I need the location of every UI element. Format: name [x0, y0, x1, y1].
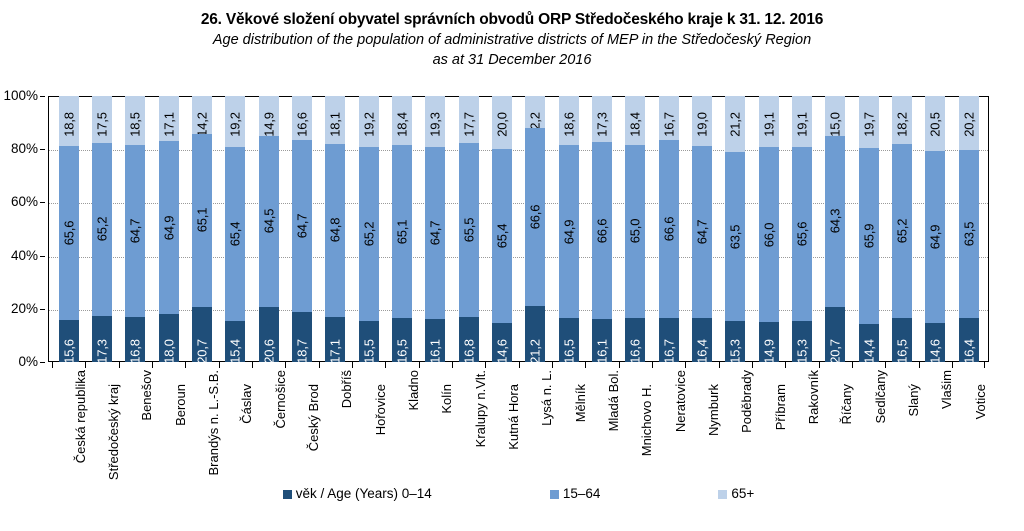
- x-axis-tick: [419, 362, 452, 368]
- stacked-bar[interactable]: 12,266,621,2: [525, 96, 545, 362]
- legend-swatch-icon: [550, 490, 559, 499]
- bar-segment-65plus[interactable]: 18,4: [625, 96, 645, 145]
- x-axis-label-cell: Černošice: [252, 370, 285, 482]
- x-axis-label-cell: Hořovice: [352, 370, 385, 482]
- bar-value-label: 21,2: [729, 112, 742, 137]
- bar-segment-0-14[interactable]: 15,6: [59, 320, 79, 361]
- bar-segment-0-14[interactable]: 20,6: [259, 307, 279, 362]
- y-axis-tick-label: 20%: [0, 302, 38, 316]
- bar-segment-65plus[interactable]: 18,5: [125, 96, 145, 145]
- bar-segment-15-64[interactable]: 65,1: [392, 145, 412, 318]
- bar-value-label: 18,7: [295, 339, 308, 364]
- bar-segment-65plus[interactable]: 14,2: [192, 96, 212, 134]
- bar-column[interactable]: 19,265,215,5: [352, 96, 385, 362]
- bar-segment-15-64[interactable]: 65,4: [225, 147, 245, 321]
- bar-value-label: 15,3: [729, 339, 742, 364]
- bar-column[interactable]: 17,164,918,0: [152, 96, 185, 362]
- bar-column[interactable]: 19,265,415,4: [219, 96, 252, 362]
- bar-segment-65plus[interactable]: 17,1: [159, 96, 179, 141]
- bar-segment-15-64[interactable]: 64,7: [125, 145, 145, 317]
- bar-column[interactable]: 18,664,916,5: [552, 96, 585, 362]
- chart-page: 26. Věkové složení obyvatel správních ob…: [0, 0, 1024, 531]
- bar-value-label: 16,4: [962, 339, 975, 364]
- bar-segment-65plus[interactable]: 21,2: [725, 96, 745, 152]
- bar-column[interactable]: 21,263,515,3: [719, 96, 752, 362]
- bar-segment-0-14[interactable]: 16,4: [692, 318, 712, 362]
- bar-value-label: 14,4: [862, 339, 875, 364]
- stacked-bar[interactable]: 15,064,320,7: [825, 96, 845, 362]
- bar-segment-15-64[interactable]: 65,2: [892, 144, 912, 318]
- bar-value-label: 19,1: [762, 112, 775, 137]
- bar-value-label: 65,9: [862, 224, 875, 249]
- bar-value-label: 64,7: [695, 220, 708, 245]
- chart-titles: 26. Věkové složení obyvatel správních ob…: [0, 10, 1024, 70]
- bar-segment-65plus[interactable]: 19,1: [792, 96, 812, 147]
- stacked-bar[interactable]: 19,765,914,4: [859, 96, 879, 362]
- legend-item[interactable]: 65+: [718, 487, 754, 501]
- stacked-bar[interactable]: 14,265,120,7: [192, 96, 212, 362]
- bar-value-label: 65,5: [462, 218, 475, 243]
- bar-segment-0-14[interactable]: 16,4: [959, 318, 979, 362]
- bar-segment-0-14[interactable]: 16,5: [559, 318, 579, 362]
- x-axis-label-cell: Poděbrady: [719, 370, 752, 482]
- bar-value-label: 65,6: [795, 222, 808, 247]
- bar-segment-0-14[interactable]: 17,3: [92, 316, 112, 362]
- chart-title-main: 26. Věkové složení obyvatel správních ob…: [0, 10, 1024, 30]
- bar-segment-0-14[interactable]: 16,1: [425, 319, 445, 362]
- x-axis-label-cell: Slaný: [885, 370, 918, 482]
- bar-value-label: 17,7: [462, 112, 475, 137]
- bar-column[interactable]: 20,263,516,4: [952, 96, 985, 362]
- bar-value-label: 63,5: [729, 225, 742, 250]
- chart-title-sub-line1: Age distribution of the population of ad…: [0, 30, 1024, 50]
- bar-value-label: 15,0: [829, 112, 842, 137]
- bar-segment-65plus[interactable]: 17,7: [459, 96, 479, 143]
- x-axis-label-cell: Beroun: [152, 370, 185, 482]
- stacked-bar[interactable]: 18,465,016,6: [625, 96, 645, 362]
- bar-value-label: 20,6: [262, 339, 275, 364]
- bar-column[interactable]: 15,064,320,7: [819, 96, 852, 362]
- bar-value-label: 19,2: [362, 112, 375, 137]
- bar-column[interactable]: 19,165,615,3: [785, 96, 818, 362]
- bar-value-label: 64,9: [562, 220, 575, 245]
- bar-value-label: 16,4: [695, 339, 708, 364]
- y-axis-tick-label: 0%: [0, 355, 38, 369]
- x-axis-label-cell: Dobříš: [319, 370, 352, 482]
- bar-segment-15-64[interactable]: 66,6: [592, 142, 612, 319]
- bar-column[interactable]: 20,564,914,6: [919, 96, 952, 362]
- bar-value-label: 15,4: [229, 339, 242, 364]
- stacked-bar[interactable]: 18,265,216,5: [892, 96, 912, 362]
- bar-value-label: 16,5: [395, 339, 408, 364]
- x-axis-label-cell: Říčany: [819, 370, 852, 482]
- bar-value-label: 14,9: [262, 112, 275, 137]
- y-axis-tick-mark: [40, 309, 45, 310]
- bar-segment-15-64[interactable]: 66,6: [525, 128, 545, 305]
- bar-series-container: 18,865,615,617,565,217,318,564,716,817,1…: [48, 96, 989, 362]
- x-axis-label-cell: Česká republika: [52, 370, 85, 482]
- stacked-bar[interactable]: 17,366,616,1: [592, 96, 612, 362]
- bar-segment-0-14[interactable]: 14,4: [859, 324, 879, 362]
- bar-segment-15-64[interactable]: 66,0: [759, 147, 779, 323]
- bar-segment-0-14[interactable]: 16,1: [592, 319, 612, 362]
- x-axis-tick: [619, 362, 652, 368]
- x-axis-category-label: Votice: [974, 384, 987, 419]
- bar-column[interactable]: 17,765,516,8: [452, 96, 485, 362]
- x-axis-label-cell: Vlašim: [919, 370, 952, 482]
- x-axis-tick: [185, 362, 218, 368]
- x-axis-label-cell: Příbram: [752, 370, 785, 482]
- bar-value-label: 18,0: [162, 339, 175, 364]
- x-axis-label-cell: Český Brod: [285, 370, 318, 482]
- stacked-bar[interactable]: 20,564,914,6: [925, 96, 945, 362]
- bar-segment-15-64[interactable]: 65,2: [359, 147, 379, 321]
- bar-value-label: 64,9: [929, 225, 942, 250]
- bar-value-label: 64,7: [295, 214, 308, 239]
- stacked-bar[interactable]: 20,263,516,4: [959, 96, 979, 362]
- bar-segment-15-64[interactable]: 64,8: [325, 144, 345, 316]
- stacked-bar[interactable]: 19,364,716,1: [425, 96, 445, 362]
- x-axis-label-cell: Neratovice: [652, 370, 685, 482]
- bar-value-label: 65,2: [95, 217, 108, 242]
- x-axis-label-cell: Lysá n. L.: [519, 370, 552, 482]
- x-axis-label-cell: Kladno: [385, 370, 418, 482]
- x-axis-tick: [452, 362, 485, 368]
- bar-segment-0-14[interactable]: 16,6: [625, 318, 645, 362]
- bar-value-label: 20,2: [962, 112, 975, 137]
- bar-value-label: 64,7: [429, 221, 442, 246]
- bar-segment-65plus[interactable]: 19,7: [859, 96, 879, 148]
- bar-segment-65plus[interactable]: 20,5: [925, 96, 945, 151]
- bar-segment-15-64[interactable]: 64,9: [925, 151, 945, 324]
- y-axis-tick-mark: [40, 256, 45, 257]
- bar-column[interactable]: 18,265,216,5: [885, 96, 918, 362]
- stacked-bar[interactable]: 17,565,217,3: [92, 96, 112, 362]
- bar-segment-15-64[interactable]: 65,2: [92, 143, 112, 316]
- y-axis-tick-label: 80%: [0, 142, 38, 156]
- x-axis-label-cell: Středočeský kraj: [85, 370, 118, 482]
- x-axis-tick: [885, 362, 918, 368]
- bar-value-label: 18,5: [129, 112, 142, 137]
- bar-value-label: 64,9: [162, 216, 175, 241]
- bar-value-label: 17,3: [95, 339, 108, 364]
- x-axis-tick: [819, 362, 852, 368]
- bar-value-label: 17,1: [162, 112, 175, 137]
- bar-value-label: 19,7: [862, 112, 875, 137]
- bar-segment-15-64[interactable]: 64,7: [292, 140, 312, 312]
- bar-segment-65plus[interactable]: 17,3: [592, 96, 612, 142]
- bar-value-label: 64,3: [829, 209, 842, 234]
- x-axis-tick: [852, 362, 885, 368]
- bar-segment-0-14[interactable]: 14,6: [492, 323, 512, 362]
- bar-value-label: 21,2: [529, 339, 542, 364]
- bar-segment-15-64[interactable]: 65,6: [59, 146, 79, 320]
- bar-value-label: 15,5: [362, 339, 375, 364]
- bar-segment-15-64[interactable]: 65,5: [459, 143, 479, 317]
- bar-segment-15-64[interactable]: 65,6: [792, 147, 812, 321]
- bar-segment-0-14[interactable]: 14,9: [759, 322, 779, 362]
- bar-column[interactable]: 19,166,014,9: [752, 96, 785, 362]
- stacked-bar[interactable]: 16,766,616,7: [659, 96, 679, 362]
- bar-segment-65plus[interactable]: 18,2: [892, 96, 912, 144]
- x-axis-tick: [519, 362, 552, 368]
- bar-value-label: 65,1: [395, 219, 408, 244]
- bar-value-label: 16,8: [462, 339, 475, 364]
- x-axis-label-cell: Benešov: [119, 370, 152, 482]
- stacked-bar[interactable]: 18,164,817,1: [325, 96, 345, 362]
- bar-segment-65plus[interactable]: 19,2: [359, 96, 379, 147]
- x-axis-label-cell: Kolín: [419, 370, 452, 482]
- bar-segment-0-14[interactable]: 20,7: [825, 307, 845, 362]
- stacked-bar[interactable]: 19,165,615,3: [792, 96, 812, 362]
- bar-segment-65plus[interactable]: 12,2: [525, 96, 545, 128]
- bar-segment-15-64[interactable]: 65,4: [492, 149, 512, 323]
- bar-value-label: 65,4: [495, 224, 508, 249]
- bar-value-label: 16,6: [295, 112, 308, 137]
- chart-legend: věk / Age (Years) 0–1415–6465+: [48, 484, 989, 504]
- x-axis-tick: [485, 362, 518, 368]
- x-axis-label-cell: Mladá Bol.: [585, 370, 618, 482]
- bar-value-label: 18,6: [562, 112, 575, 137]
- bar-column[interactable]: 18,465,116,5: [385, 96, 418, 362]
- bar-segment-0-14[interactable]: 16,5: [892, 318, 912, 362]
- stacked-bar[interactable]: 17,164,918,0: [159, 96, 179, 362]
- bar-value-label: 65,4: [229, 222, 242, 247]
- x-axis-tick: [719, 362, 752, 368]
- bar-segment-65plus[interactable]: 15,0: [825, 96, 845, 136]
- stacked-bar[interactable]: 20,065,414,6: [492, 96, 512, 362]
- stacked-bar[interactable]: 19,265,415,4: [225, 96, 245, 362]
- bar-segment-0-14[interactable]: 14,6: [925, 323, 945, 362]
- x-axis-label-cell: Rakovník: [785, 370, 818, 482]
- bar-value-label: 20,7: [829, 339, 842, 364]
- bar-column[interactable]: 14,265,120,7: [185, 96, 218, 362]
- y-axis-tick-mark: [40, 96, 45, 97]
- stacked-bar[interactable]: 18,564,716,8: [125, 96, 145, 362]
- x-axis-tick: [385, 362, 418, 368]
- stacked-bar[interactable]: 21,263,515,3: [725, 96, 745, 362]
- bar-segment-15-64[interactable]: 64,5: [259, 136, 279, 308]
- bar-column[interactable]: 20,065,414,6: [485, 96, 518, 362]
- x-axis-tick: [352, 362, 385, 368]
- x-axis-tick: [119, 362, 152, 368]
- bar-segment-65plus[interactable]: 16,7: [659, 96, 679, 140]
- bar-column[interactable]: 19,765,914,4: [852, 96, 885, 362]
- y-axis-tick-mark: [40, 202, 45, 203]
- x-axis-label-cell: Mnichovo H.: [619, 370, 652, 482]
- bar-value-label: 65,0: [629, 219, 642, 244]
- x-axis-tick: [219, 362, 252, 368]
- bar-column[interactable]: 12,266,621,2: [519, 96, 552, 362]
- bar-value-label: 15,3: [795, 339, 808, 364]
- bar-column[interactable]: 19,064,716,4: [685, 96, 718, 362]
- stacked-bar[interactable]: 18,664,916,5: [559, 96, 579, 362]
- bar-segment-65plus[interactable]: 14,9: [259, 96, 279, 136]
- bar-value-label: 16,5: [895, 339, 908, 364]
- bar-value-label: 16,1: [429, 339, 442, 364]
- bar-segment-15-64[interactable]: 63,5: [959, 150, 979, 319]
- bar-segment-0-14[interactable]: 16,5: [392, 318, 412, 362]
- bar-segment-65plus[interactable]: 20,2: [959, 96, 979, 150]
- x-axis-tick: [952, 362, 985, 368]
- x-axis-tick: [919, 362, 952, 368]
- bar-value-label: 63,5: [962, 222, 975, 247]
- x-axis-label-cell: Kutná Hora: [485, 370, 518, 482]
- bar-segment-65plus[interactable]: 20,0: [492, 96, 512, 149]
- bar-value-label: 16,5: [562, 339, 575, 364]
- bar-segment-0-14[interactable]: 16,8: [125, 317, 145, 362]
- bar-segment-15-64[interactable]: 65,1: [192, 134, 212, 307]
- bar-value-label: 65,2: [362, 222, 375, 247]
- bar-segment-15-64[interactable]: 64,9: [559, 145, 579, 318]
- bar-segment-0-14[interactable]: 21,2: [525, 306, 545, 362]
- stacked-bar[interactable]: 14,964,520,6: [259, 96, 279, 362]
- stacked-bar[interactable]: 17,765,516,8: [459, 96, 479, 362]
- x-axis-tick: [52, 362, 85, 368]
- bar-value-label: 16,1: [595, 339, 608, 364]
- x-axis-tick: [252, 362, 285, 368]
- bar-segment-0-14[interactable]: 15,4: [225, 321, 245, 362]
- bar-segment-15-64[interactable]: 65,9: [859, 148, 879, 323]
- x-axis-tick: [152, 362, 185, 368]
- bar-segment-0-14[interactable]: 17,1: [325, 317, 345, 362]
- bar-segment-0-14[interactable]: 15,5: [359, 321, 379, 362]
- bar-segment-65plus[interactable]: 17,5: [92, 96, 112, 143]
- bar-column[interactable]: 19,364,716,1: [419, 96, 452, 362]
- bar-column[interactable]: 16,664,718,7: [285, 96, 318, 362]
- bar-segment-65plus[interactable]: 19,1: [759, 96, 779, 147]
- y-axis-labels: 0%20%40%60%80%100%: [0, 96, 44, 362]
- stacked-bar[interactable]: 16,664,718,7: [292, 96, 312, 362]
- bar-segment-65plus[interactable]: 19,2: [225, 96, 245, 147]
- bar-value-label: 20,5: [929, 112, 942, 137]
- bar-value-label: 14,9: [762, 339, 775, 364]
- bar-column[interactable]: 18,465,016,6: [619, 96, 652, 362]
- y-axis-tick-label: 100%: [0, 89, 38, 103]
- bar-column[interactable]: 14,964,520,6: [252, 96, 285, 362]
- bar-segment-15-64[interactable]: 64,7: [692, 146, 712, 318]
- bar-column[interactable]: 18,164,817,1: [319, 96, 352, 362]
- stacked-bar[interactable]: 19,166,014,9: [759, 96, 779, 362]
- bar-column[interactable]: 17,565,217,3: [85, 96, 118, 362]
- stacked-bar[interactable]: 18,865,615,6: [59, 96, 79, 362]
- x-axis-ticks: [48, 362, 989, 368]
- bar-value-label: 14,6: [929, 339, 942, 364]
- x-axis-label-cell: Mělník: [552, 370, 585, 482]
- x-axis-label-cell: Kralupy n.Vlt.: [452, 370, 485, 482]
- bar-segment-0-14[interactable]: 18,0: [159, 314, 179, 362]
- bar-value-label: 66,0: [762, 222, 775, 247]
- bar-value-label: 66,6: [662, 217, 675, 242]
- bar-value-label: 19,2: [229, 112, 242, 137]
- x-axis-label-cell: Nymburk: [685, 370, 718, 482]
- legend-label: 15–64: [563, 487, 601, 501]
- x-axis-tick: [585, 362, 618, 368]
- bar-segment-65plus[interactable]: 18,1: [325, 96, 345, 144]
- bar-segment-65plus[interactable]: 18,6: [559, 96, 579, 145]
- bar-value-label: 20,7: [195, 339, 208, 364]
- chart-title-sub-line2: as at 31 December 2016: [0, 50, 1024, 70]
- x-axis-label-cell: Sedlčany: [852, 370, 885, 482]
- bar-segment-15-64[interactable]: 64,7: [425, 147, 445, 319]
- x-axis-tick: [752, 362, 785, 368]
- bar-value-label: 16,6: [629, 339, 642, 364]
- bar-segment-15-64[interactable]: 65,0: [625, 145, 645, 318]
- bar-segment-0-14[interactable]: 16,7: [659, 318, 679, 362]
- bar-segment-0-14[interactable]: 16,8: [459, 317, 479, 362]
- bar-value-label: 19,0: [695, 112, 708, 137]
- y-axis-tick-label: 40%: [0, 249, 38, 263]
- bar-value-label: 19,1: [795, 112, 808, 137]
- x-axis-category-labels: Česká republikaStředočeský krajBenešovBe…: [48, 370, 989, 482]
- bar-segment-65plus[interactable]: 18,4: [392, 96, 412, 145]
- bar-segment-15-64[interactable]: 64,9: [159, 141, 179, 314]
- bar-value-label: 18,2: [895, 112, 908, 137]
- bar-segment-0-14[interactable]: 15,3: [725, 321, 745, 362]
- legend-swatch-icon: [283, 490, 292, 499]
- bar-segment-65plus[interactable]: 16,6: [292, 96, 312, 140]
- bar-value-label: 19,3: [429, 112, 442, 137]
- bar-value-label: 17,1: [329, 339, 342, 364]
- bar-column[interactable]: 18,865,615,6: [52, 96, 85, 362]
- legend-item[interactable]: věk / Age (Years) 0–14: [283, 487, 432, 501]
- bar-segment-0-14[interactable]: 20,7: [192, 307, 212, 362]
- bar-value-label: 65,6: [62, 221, 75, 246]
- bar-value-label: 18,1: [329, 112, 342, 137]
- x-axis-tick: [319, 362, 352, 368]
- x-axis-tick: [285, 362, 318, 368]
- bar-value-label: 18,4: [395, 112, 408, 137]
- bar-segment-15-64[interactable]: 64,3: [825, 136, 845, 307]
- bar-segment-0-14[interactable]: 18,7: [292, 312, 312, 362]
- bar-value-label: 64,5: [262, 209, 275, 234]
- bar-value-label: 15,6: [62, 339, 75, 364]
- bar-value-label: 16,7: [662, 339, 675, 364]
- legend-item[interactable]: 15–64: [550, 487, 601, 501]
- stacked-bar[interactable]: 18,465,116,5: [392, 96, 412, 362]
- bar-value-label: 65,1: [195, 208, 208, 233]
- x-axis-tick: [552, 362, 585, 368]
- y-axis-tick-mark: [40, 149, 45, 150]
- x-axis-tick: [785, 362, 818, 368]
- x-axis-tick: [652, 362, 685, 368]
- bar-value-label: 17,3: [595, 112, 608, 137]
- bar-segment-65plus[interactable]: 19,3: [425, 96, 445, 147]
- bar-value-label: 14,6: [495, 339, 508, 364]
- bar-segment-65plus[interactable]: 19,0: [692, 96, 712, 146]
- x-axis-label-cell: Čáslav: [219, 370, 252, 482]
- bar-value-label: 18,4: [629, 112, 642, 137]
- stacked-bar[interactable]: 19,265,215,5: [359, 96, 379, 362]
- bar-column[interactable]: 16,766,616,7: [652, 96, 685, 362]
- bar-segment-15-64[interactable]: 66,6: [659, 140, 679, 317]
- bar-value-label: 18,8: [62, 112, 75, 137]
- x-axis-label-cell: Brandýs n. L.-S.B.: [185, 370, 218, 482]
- bar-column[interactable]: 17,366,616,1: [585, 96, 618, 362]
- bar-value-label: 17,5: [95, 112, 108, 137]
- bar-value-label: 65,2: [895, 219, 908, 244]
- bar-segment-65plus[interactable]: 18,8: [59, 96, 79, 146]
- bar-segment-15-64[interactable]: 63,5: [725, 152, 745, 321]
- x-axis-tick: [685, 362, 718, 368]
- bar-value-label: 64,8: [329, 218, 342, 243]
- bar-segment-0-14[interactable]: 15,3: [792, 321, 812, 362]
- y-axis-tick-mark: [40, 362, 45, 363]
- stacked-bar[interactable]: 19,064,716,4: [692, 96, 712, 362]
- bar-value-label: 20,0: [495, 112, 508, 137]
- legend-label: věk / Age (Years) 0–14: [296, 487, 432, 501]
- bar-column[interactable]: 18,564,716,8: [119, 96, 152, 362]
